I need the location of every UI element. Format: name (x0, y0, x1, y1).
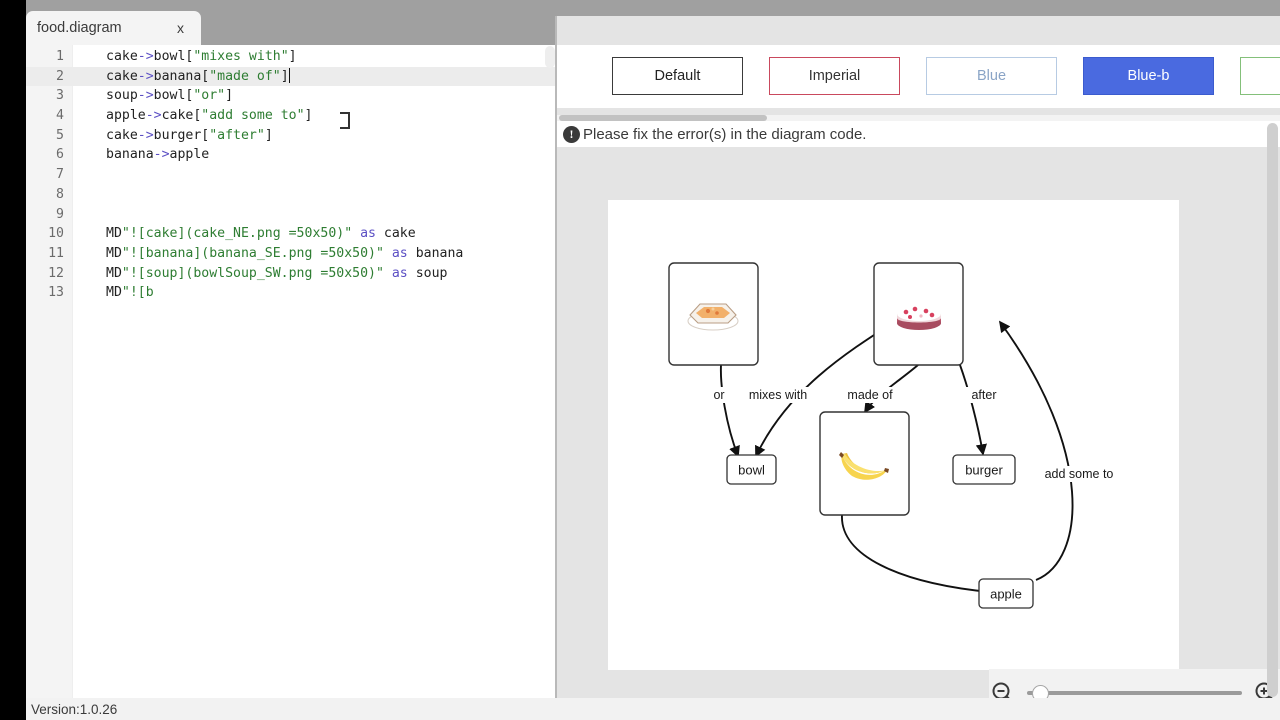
code-line-2[interactable]: 2cake->banana["made of"] (26, 67, 555, 87)
code-line-4[interactable]: 4apple->cake["add some to"] (26, 106, 555, 126)
zoom-slider-track[interactable] (1027, 691, 1242, 695)
theme-button-green[interactable]: Green (1240, 57, 1280, 95)
line-number: 2 (26, 67, 73, 87)
line-number: 1 (26, 47, 73, 67)
line-number: 4 (26, 106, 73, 126)
close-icon[interactable]: x (177, 21, 184, 35)
line-number: 5 (26, 126, 73, 146)
node-label-bowl: bowl (738, 463, 765, 478)
error-message-text: Please fix the error(s) in the diagram c… (583, 126, 866, 143)
code-line-8[interactable]: 8 (26, 185, 555, 205)
code-line-10[interactable]: 10MD"![cake](cake_NE.png =50x50)" as cak… (26, 224, 555, 244)
edge-banana-apple (842, 515, 990, 592)
code-lines[interactable]: 1cake->bowl["mixes with"]2cake->banana["… (26, 47, 555, 303)
tab-title: food.diagram (37, 20, 122, 36)
zoom-control[interactable] (989, 669, 1280, 698)
line-number: 3 (26, 86, 73, 106)
text-caret (289, 68, 290, 83)
line-number: 13 (26, 283, 73, 303)
version-label: Version:1.0.26 (31, 702, 117, 717)
theme-button-default[interactable]: Default (612, 57, 743, 95)
edge-label-after: after (971, 388, 996, 402)
preview-vertical-scrollbar[interactable] (1267, 123, 1278, 697)
code-line-text: MD"![b (106, 283, 154, 303)
code-line-text: cake->banana["made of"] (106, 67, 290, 87)
node-soup (669, 263, 758, 365)
theme-button-blue[interactable]: Blue (926, 57, 1057, 95)
line-number: 12 (26, 264, 73, 284)
theme-button-imperial[interactable]: Imperial (769, 57, 900, 95)
code-line-text: MD"![cake](cake_NE.png =50x50)" as cake (106, 224, 416, 244)
line-number: 6 (26, 145, 73, 165)
preview-pane: DefaultImperialBlueBlue-bGreen ! Please … (557, 16, 1280, 698)
status-bar: Version:1.0.26 (26, 698, 1280, 720)
tab-food-diagram[interactable]: food.diagram x (26, 11, 201, 45)
zoom-slider-thumb[interactable] (1032, 685, 1049, 698)
diagram-canvas[interactable]: bowl burger apple or (557, 147, 1280, 698)
code-line-11[interactable]: 11MD"![banana](banana_SE.png =50x50)" as… (26, 244, 555, 264)
code-line-text: apple->cake["add some to"] (106, 106, 312, 126)
line-number: 8 (26, 185, 73, 205)
app-window: food.diagram x 1cake->bowl["mixes with"]… (0, 0, 1280, 720)
zoom-slider[interactable] (1027, 682, 1242, 698)
text-cursor-icon (344, 112, 346, 129)
edge-label-add-some-to: add some to (1045, 467, 1114, 481)
code-line-text: MD"![banana](banana_SE.png =50x50)" as b… (106, 244, 463, 264)
code-line-13[interactable]: 13MD"![b (26, 283, 555, 303)
theme-button-blue-b[interactable]: Blue-b (1083, 57, 1214, 95)
node-cake (874, 263, 963, 365)
code-line-text: cake->bowl["mixes with"] (106, 47, 297, 67)
error-icon: ! (563, 126, 580, 143)
code-line-9[interactable]: 9 (26, 205, 555, 225)
node-burger: burger (953, 455, 1015, 484)
edge-label-mixes-with: mixes with (749, 388, 807, 402)
code-line-1[interactable]: 1cake->bowl["mixes with"] (26, 47, 555, 67)
error-message-bar: ! Please fix the error(s) in the diagram… (557, 121, 1280, 147)
line-number: 7 (26, 165, 73, 185)
code-line-7[interactable]: 7 (26, 165, 555, 185)
code-line-text: MD"![soup](bowlSoup_SW.png =50x50)" as s… (106, 264, 447, 284)
line-number: 11 (26, 244, 73, 264)
node-label-burger: burger (965, 463, 1003, 478)
node-bowl: bowl (727, 455, 776, 484)
code-line-12[interactable]: 12MD"![soup](bowlSoup_SW.png =50x50)" as… (26, 264, 555, 284)
editor-vertical-scrollbar[interactable] (545, 46, 555, 68)
code-line-5[interactable]: 5cake->burger["after"] (26, 126, 555, 146)
edge-label-or: or (713, 388, 724, 402)
code-line-3[interactable]: 3soup->bowl["or"] (26, 86, 555, 106)
code-line-text: banana->apple (106, 145, 209, 165)
code-line-6[interactable]: 6banana->apple (26, 145, 555, 165)
node-banana (820, 412, 909, 515)
edge-cake-burger (960, 365, 983, 454)
diagram-sheet[interactable]: bowl burger apple or (608, 200, 1179, 670)
zoom-out-icon[interactable] (989, 679, 1017, 698)
theme-toolbar: DefaultImperialBlueBlue-bGreen (557, 45, 1280, 108)
code-editor-pane[interactable]: 1cake->bowl["mixes with"]2cake->banana["… (26, 45, 555, 698)
edge-label-made-of: made of (847, 388, 893, 402)
code-line-text: soup->bowl["or"] (106, 86, 233, 106)
theme-button-list: DefaultImperialBlueBlue-bGreen (612, 57, 1280, 95)
line-number: 10 (26, 224, 73, 244)
edge-soup-bowl (721, 365, 738, 456)
line-number: 9 (26, 205, 73, 225)
node-label-apple: apple (990, 587, 1022, 602)
edge-apple-cake (1000, 322, 1073, 580)
node-apple: apple (979, 579, 1033, 608)
code-line-text: cake->burger["after"] (106, 126, 273, 146)
